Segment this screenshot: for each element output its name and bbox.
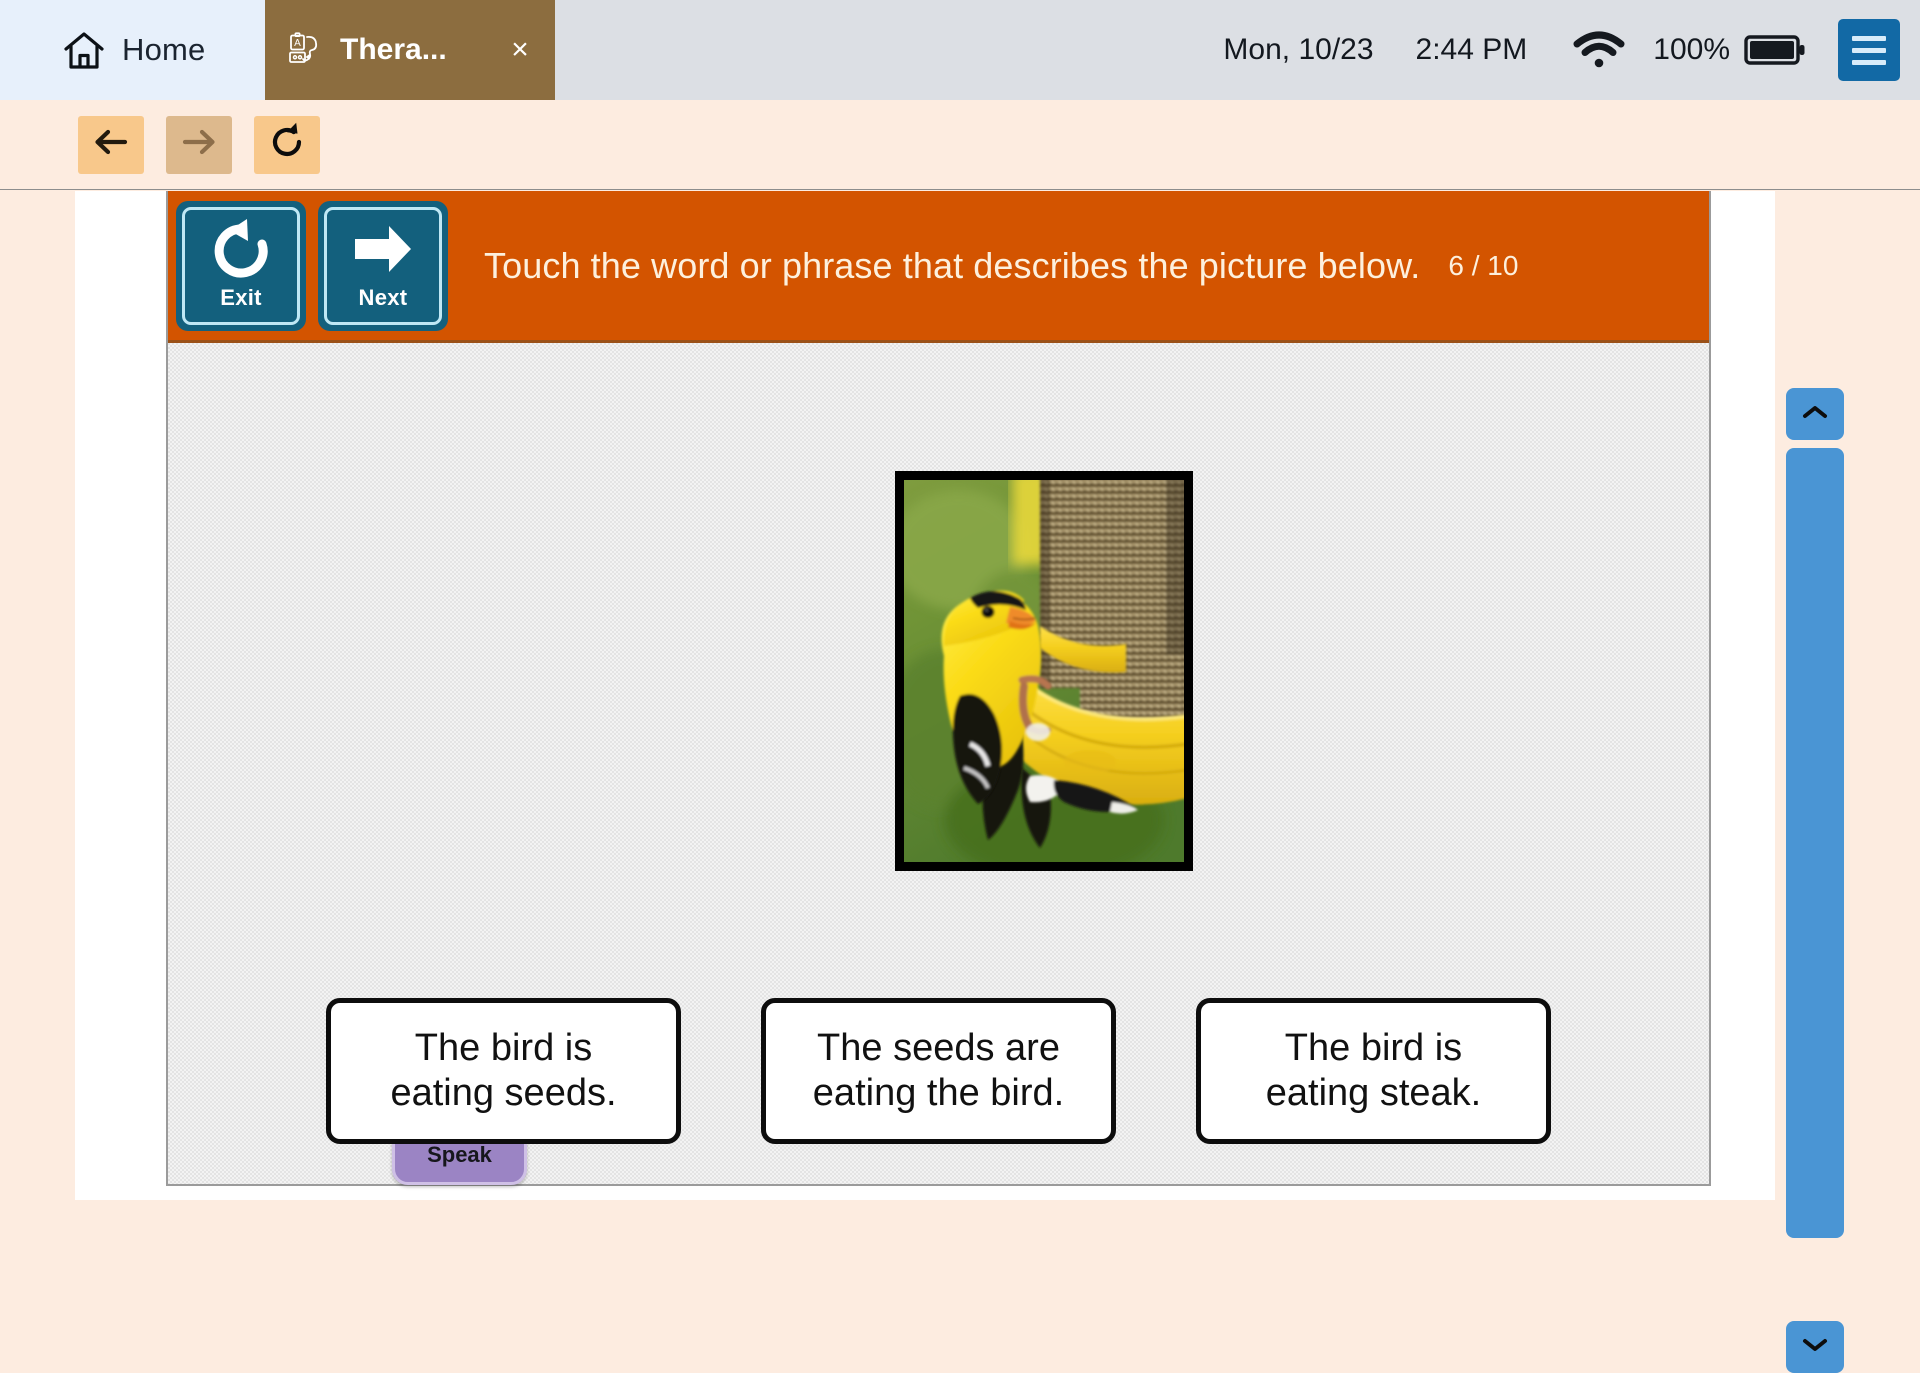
home-button[interactable]: Home (0, 0, 265, 100)
status-date: Mon, 10/23 (1223, 33, 1373, 67)
reload-icon (265, 120, 309, 169)
arrow-right-bold-icon (347, 215, 419, 283)
next-label: Next (359, 285, 408, 311)
topbar-spacer (555, 0, 1223, 100)
activity-header: Exit Next Touch the word or phrase that … (168, 191, 1709, 343)
home-icon (62, 28, 106, 72)
answer-choice-1[interactable]: The bird is eating seeds. (326, 998, 681, 1144)
system-status-cluster: Mon, 10/23 2:44 PM 100% (1223, 0, 1920, 100)
exit-button[interactable]: Exit (176, 201, 306, 331)
question-counter: 6 / 10 (1448, 250, 1518, 282)
menu-line-1 (1852, 36, 1886, 41)
activity-prompt: Touch the word or phrase that describes … (484, 245, 1420, 287)
undo-circle-icon (205, 215, 277, 283)
home-label: Home (122, 32, 206, 68)
menu-line-3 (1852, 60, 1886, 65)
answer-3-line2: eating steak. (1266, 1072, 1481, 1114)
answer-2-line1: The seeds are (817, 1027, 1060, 1069)
page-scrollbar[interactable] (1786, 388, 1844, 1373)
wifi-icon (1573, 30, 1625, 70)
answer-2-line2: eating the bird. (813, 1072, 1064, 1114)
answer-choice-row: The bird is eating seeds. The seeds are … (168, 998, 1709, 1158)
arrow-right-icon (177, 120, 221, 169)
top-status-bar: Home A Thera... × Mon, 10/23 2:44 PM (0, 0, 1920, 100)
answer-choice-2[interactable]: The seeds are eating the bird. (761, 998, 1116, 1144)
answer-1-line1: The bird is (415, 1027, 592, 1069)
browser-navigation-toolbar (0, 100, 1920, 190)
speech-therapy-icon: A (287, 30, 327, 70)
hamburger-menu-icon[interactable] (1838, 19, 1900, 81)
forward-button (166, 116, 232, 174)
stimulus-image (904, 480, 1184, 862)
back-button[interactable] (78, 116, 144, 174)
tab-title: Thera... (340, 33, 494, 67)
page-viewport: Exit Next Touch the word or phrase that … (0, 191, 1920, 1200)
exit-label: Exit (220, 285, 262, 311)
stimulus-image-frame (895, 471, 1193, 871)
therapy-activity-app: Exit Next Touch the word or phrase that … (166, 191, 1711, 1186)
scroll-up-button[interactable] (1786, 388, 1844, 440)
battery-full-icon (1744, 33, 1806, 67)
chevron-up-icon (1800, 402, 1830, 427)
svg-text:A: A (294, 38, 301, 49)
answer-choice-3[interactable]: The bird is eating steak. (1196, 998, 1551, 1144)
browser-tab-therapy[interactable]: A Thera... × (265, 0, 555, 100)
answer-3-line1: The bird is (1285, 1027, 1462, 1069)
arrow-left-icon (89, 120, 133, 169)
scroll-down-button[interactable] (1786, 1321, 1844, 1373)
reload-button[interactable] (254, 116, 320, 174)
next-button[interactable]: Next (318, 201, 448, 331)
activity-content: Speak The bird is eating seeds. The seed… (168, 343, 1709, 1184)
battery-percent-label: 100% (1653, 33, 1730, 67)
chevron-down-icon (1800, 1335, 1830, 1360)
answer-1-line2: eating seeds. (390, 1072, 616, 1114)
close-icon[interactable]: × (507, 35, 533, 65)
status-time: 2:44 PM (1416, 33, 1528, 67)
menu-line-2 (1852, 48, 1886, 53)
scrollbar-thumb[interactable] (1786, 448, 1844, 1238)
